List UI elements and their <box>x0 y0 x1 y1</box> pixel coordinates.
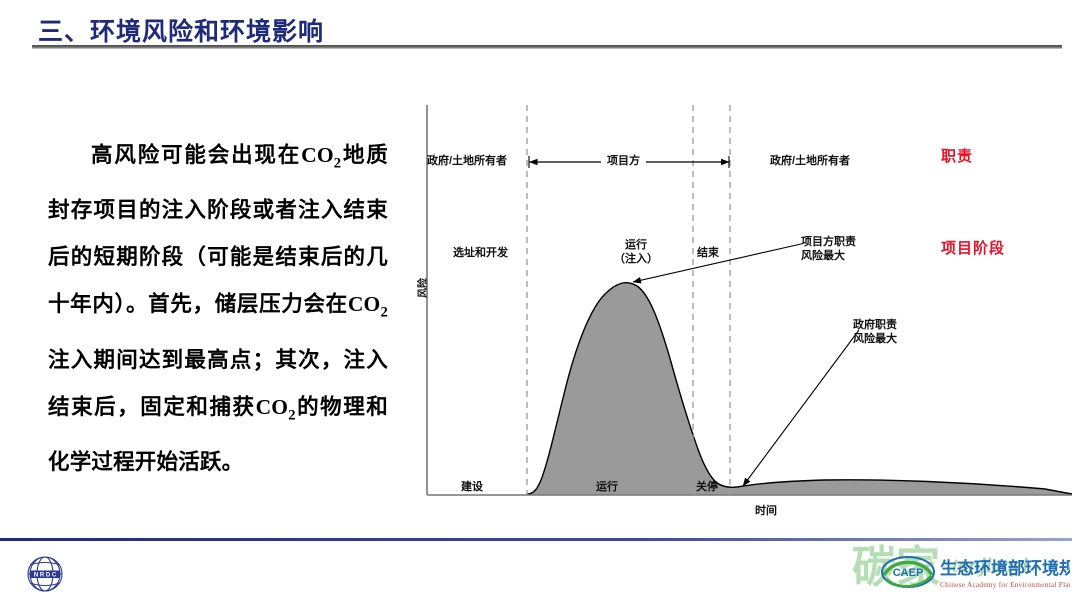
co2-subscript-2: 2 <box>380 305 388 321</box>
y-axis-label: 风险 <box>417 278 431 298</box>
responsibility-label-right: 政府/土地所有者 <box>770 154 850 168</box>
responsibility-category-label: 职责 <box>941 150 973 164</box>
baseline-label-mid: 运行 <box>596 480 618 494</box>
stage-label-mid-line1: 运行 <box>614 238 658 252</box>
body-text-part-1: 高风险可能会出现在CO <box>91 143 334 167</box>
baseline-label-left: 建设 <box>461 480 483 494</box>
stage-label-right: 结束 <box>697 246 719 260</box>
caep-name-cn: 生态环境部环境规划院 <box>940 558 1070 578</box>
stage-label-left: 选址和开发 <box>453 246 508 260</box>
caep-logo: CAEP 生态环境部环境规划院 Chinese Academy for Envi… <box>880 548 1070 598</box>
annotation-peak-text: 项目方职责 风险最大 <box>801 235 856 263</box>
responsibility-label-left: 政府/土地所有者 <box>427 154 507 168</box>
annotation-postclosure-text: 政府职责 风险最大 <box>853 318 897 346</box>
caep-emblem-icon: CAEP <box>882 557 934 587</box>
risk-lifecycle-chart: 政府/土地所有者 项目方 政府/土地所有者 职责 选址和开发 运行 （注入） 结… <box>405 90 1072 530</box>
co2-subscript-3: 2 <box>288 407 296 423</box>
annotation-peak-line2: 风险最大 <box>801 249 856 263</box>
globe-logo-icon: N R D C <box>18 552 72 596</box>
annotation-postclosure-line1: 政府职责 <box>853 318 897 332</box>
baseline-label-right: 关停 <box>696 480 718 494</box>
risk-area-path <box>527 283 1072 495</box>
annotation-leader-postclosure <box>743 330 859 486</box>
body-paragraph: 高风险可能会出现在CO2地质封存项目的注入阶段或者注入结束后的短期阶段（可能是结… <box>48 132 388 486</box>
annotation-postclosure-line2: 风险最大 <box>853 332 897 346</box>
title-divider <box>32 45 1062 49</box>
page-title: 三、环境风险和环境影响 <box>38 12 324 48</box>
responsibility-label-mid: 项目方 <box>601 154 646 168</box>
x-axis-label: 时间 <box>755 504 777 518</box>
svg-text:CAEP: CAEP <box>893 567 924 579</box>
stage-category-label: 项目阶段 <box>941 242 1005 256</box>
stage-label-mid-line2: （注入） <box>614 252 658 266</box>
annotation-peak-line1: 项目方职责 <box>801 235 856 249</box>
svg-text:N R D C: N R D C <box>34 573 57 579</box>
stage-label-mid: 运行 （注入） <box>614 238 658 266</box>
caep-name-en: Chinese Academy for Environmental Planni… <box>940 581 1070 589</box>
